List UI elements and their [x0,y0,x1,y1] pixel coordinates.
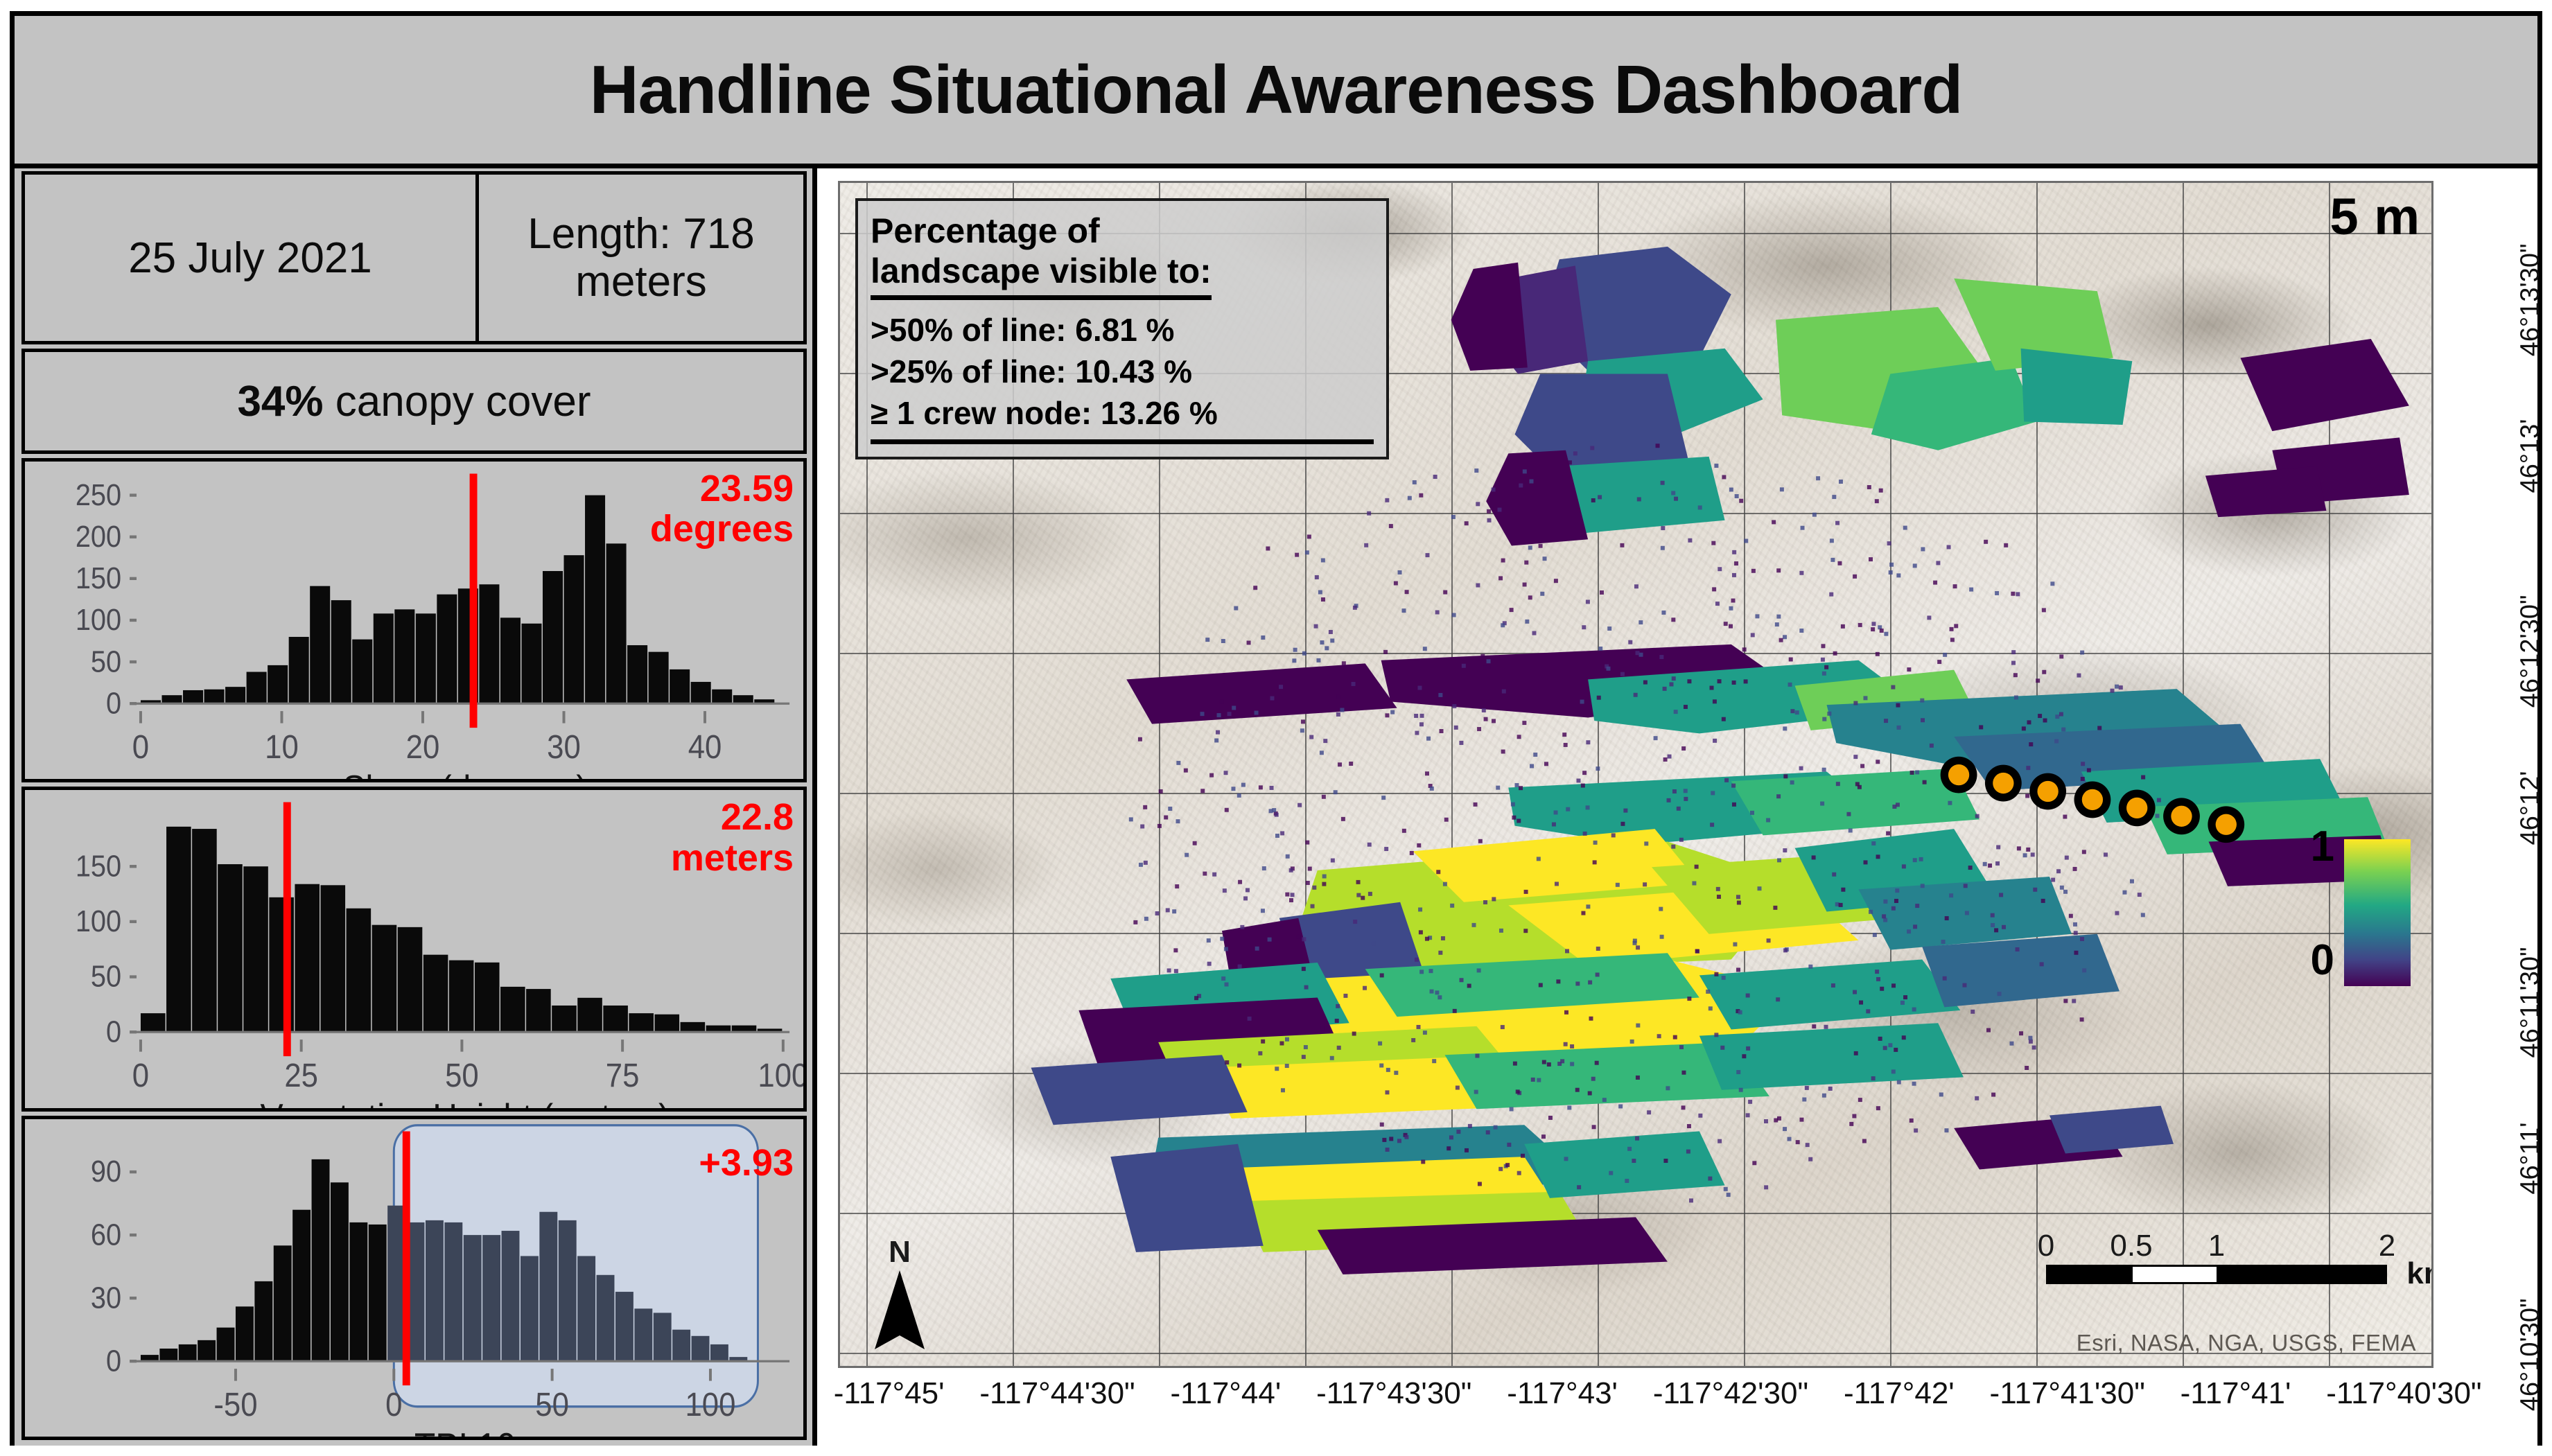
svg-text:100: 100 [758,1056,803,1094]
scalebar-tick-0-5: 0.5 [2110,1229,2152,1263]
visibility-row-crew-node: ≥ 1 crew node: 13.26 % [871,393,1374,435]
dashboard-root: Handline Situational Awareness Dashboard… [10,11,2542,1446]
longitude-tick-label: -117°42' [1844,1376,1955,1411]
colorbar-max-label: 1 [2311,822,2334,871]
svg-text:150: 150 [76,849,121,883]
svg-text:50: 50 [535,1385,569,1423]
svg-text:0: 0 [132,1056,149,1094]
longitude-tick-label: -117°44'30" [979,1376,1135,1411]
scalebar-bar [2046,1265,2387,1284]
date-card: 25 July 2021 [21,171,479,344]
north-arrow: N [858,1237,941,1351]
map-canvas[interactable]: 5 m Percentage of landscape visible to: … [838,181,2433,1368]
visibility-summary-box: Percentage of landscape visible to: >50%… [855,198,1389,459]
svg-text:Vegetation Height (meters): Vegetation Height (meters) [261,1097,670,1107]
svg-text:100: 100 [685,1385,735,1423]
svg-text:90: 90 [91,1154,121,1188]
visibility-row-50: >50% of line: 6.81 % [871,310,1374,351]
visibility-heading-line-2: landscape visible to: [871,252,1212,290]
svg-text:150: 150 [76,561,121,595]
svg-text:100: 100 [76,602,121,636]
slope-histogram-card: 050100150200250010203040Slope (degrees) … [21,458,807,782]
latitude-tick-label: 46°13' [2516,419,2546,493]
longitude-axis: -117°45'-117°44'30"-117°44'-117°43'30"-1… [838,1376,2433,1418]
vegetation-height-stat-unit: meters [671,838,794,878]
svg-text:250: 250 [76,477,121,511]
canopy-percent: 34% [237,378,323,426]
map-panel[interactable]: 5 m Percentage of landscape visible to: … [817,168,2537,1446]
svg-text:30: 30 [91,1280,121,1314]
svg-text:100: 100 [76,904,121,938]
basemap-attribution: Esri, NASA, NGA, USGS, FEMA [2077,1330,2416,1356]
svg-text:0: 0 [106,686,121,720]
tpi-histogram-card: 0306090-50050100TPI 10 +3.93 [21,1116,807,1440]
svg-text:50: 50 [91,959,121,993]
longitude-tick-label: -117°42'30" [1653,1376,1808,1411]
latitude-tick-label: 46°13'30" [2516,243,2546,356]
longitude-tick-label: -117°43' [1507,1376,1618,1411]
latitude-tick-label: 46°12'30" [2516,595,2546,708]
svg-text:-50: -50 [213,1385,257,1423]
svg-text:75: 75 [606,1056,640,1094]
latitude-axis: 46°13'30"46°13'46°12'30"46°12'46°11'30"4… [2436,181,2533,1368]
svg-text:25: 25 [284,1056,318,1094]
svg-text:60: 60 [91,1217,121,1251]
vegetation-height-histogram-card: 0501001500255075100Vegetation Height (me… [21,787,807,1111]
longitude-tick-label: -117°41' [2180,1376,2291,1411]
page-title: Handline Situational Awareness Dashboard [590,51,1962,129]
map-scalebar: 0 0.5 1 2 km [2046,1229,2387,1284]
svg-text:200: 200 [76,519,121,553]
slope-stat-value: 23.59 [650,468,794,509]
longitude-tick-label: -117°43'30" [1316,1376,1471,1411]
svg-text:TPI 10: TPI 10 [414,1426,516,1437]
longitude-tick-label: -117°41'30" [1990,1376,2145,1411]
longitude-tick-label: -117°44' [1171,1376,1282,1411]
canopy-label: canopy cover [324,378,591,426]
svg-text:10: 10 [265,728,299,765]
tpi-stat: +3.93 [699,1143,794,1183]
viewshed-colorbar [2344,839,2411,986]
visibility-summary-rows: >50% of line: 6.81 % >25% of line: 10.43… [871,310,1374,444]
canopy-cover-card: 34% canopy cover [21,349,807,454]
metrics-panel: 25 July 2021 Length: 718 meters 34% cano… [15,168,817,1446]
latitude-tick-label: 46°11' [2516,1123,2546,1195]
slope-stat: 23.59 degrees [650,468,794,550]
tpi-histogram: 0306090-50050100TPI 10 [25,1119,803,1437]
canopy-cover-value: 34% canopy cover [237,377,591,426]
visibility-summary-heading: Percentage of landscape visible to: [871,211,1212,300]
tpi-stat-value: +3.93 [699,1143,794,1183]
scalebar-tick-1: 1 [2208,1229,2225,1263]
summary-row: 25 July 2021 Length: 718 meters [21,171,807,344]
svg-text:50: 50 [445,1056,479,1094]
svg-text:30: 30 [547,728,581,765]
scalebar-tick-2: 2 [2379,1229,2395,1263]
vegetation-height-stat: 22.8 meters [671,797,794,878]
svg-text:0: 0 [106,1343,121,1377]
svg-text:0: 0 [132,728,149,765]
scalebar-unit: km [2406,1256,2433,1291]
north-arrow-icon [873,1269,927,1351]
colorbar-min-label: 0 [2311,936,2334,985]
svg-text:0: 0 [385,1385,402,1423]
dashboard-body: 25 July 2021 Length: 718 meters 34% cano… [15,168,2537,1446]
svg-text:50: 50 [91,644,121,678]
visibility-row-25: >25% of line: 10.43 % [871,351,1374,393]
longitude-tick-label: -117°45' [834,1376,945,1411]
date-value: 25 July 2021 [128,234,372,283]
svg-text:40: 40 [688,728,722,765]
map-resolution-label: 5 m [2330,187,2420,246]
north-label: N [858,1237,941,1268]
length-line-1: Length: 718 [527,210,755,258]
latitude-tick-label: 46°11'30" [2516,947,2546,1058]
length-value: Length: 718 meters [527,210,755,306]
latitude-tick-label: 46°12' [2516,771,2546,845]
length-card: Length: 718 meters [475,171,807,344]
latitude-tick-label: 46°10'30" [2516,1299,2546,1412]
svg-text:Slope (degrees): Slope (degrees) [342,769,587,779]
dashboard-header: Handline Situational Awareness Dashboard [15,16,2537,168]
slope-stat-unit: degrees [650,509,794,549]
svg-text:0: 0 [106,1015,121,1049]
vegetation-height-stat-value: 22.8 [671,797,794,837]
length-line-2: meters [575,258,706,306]
scalebar-tick-0: 0 [2038,1229,2054,1263]
visibility-heading-line-1: Percentage of [871,211,1100,250]
longitude-tick-label: -117°40'30" [2326,1376,2481,1411]
svg-text:20: 20 [406,728,440,765]
scalebar-ticks: 0 0.5 1 2 [2046,1229,2387,1265]
